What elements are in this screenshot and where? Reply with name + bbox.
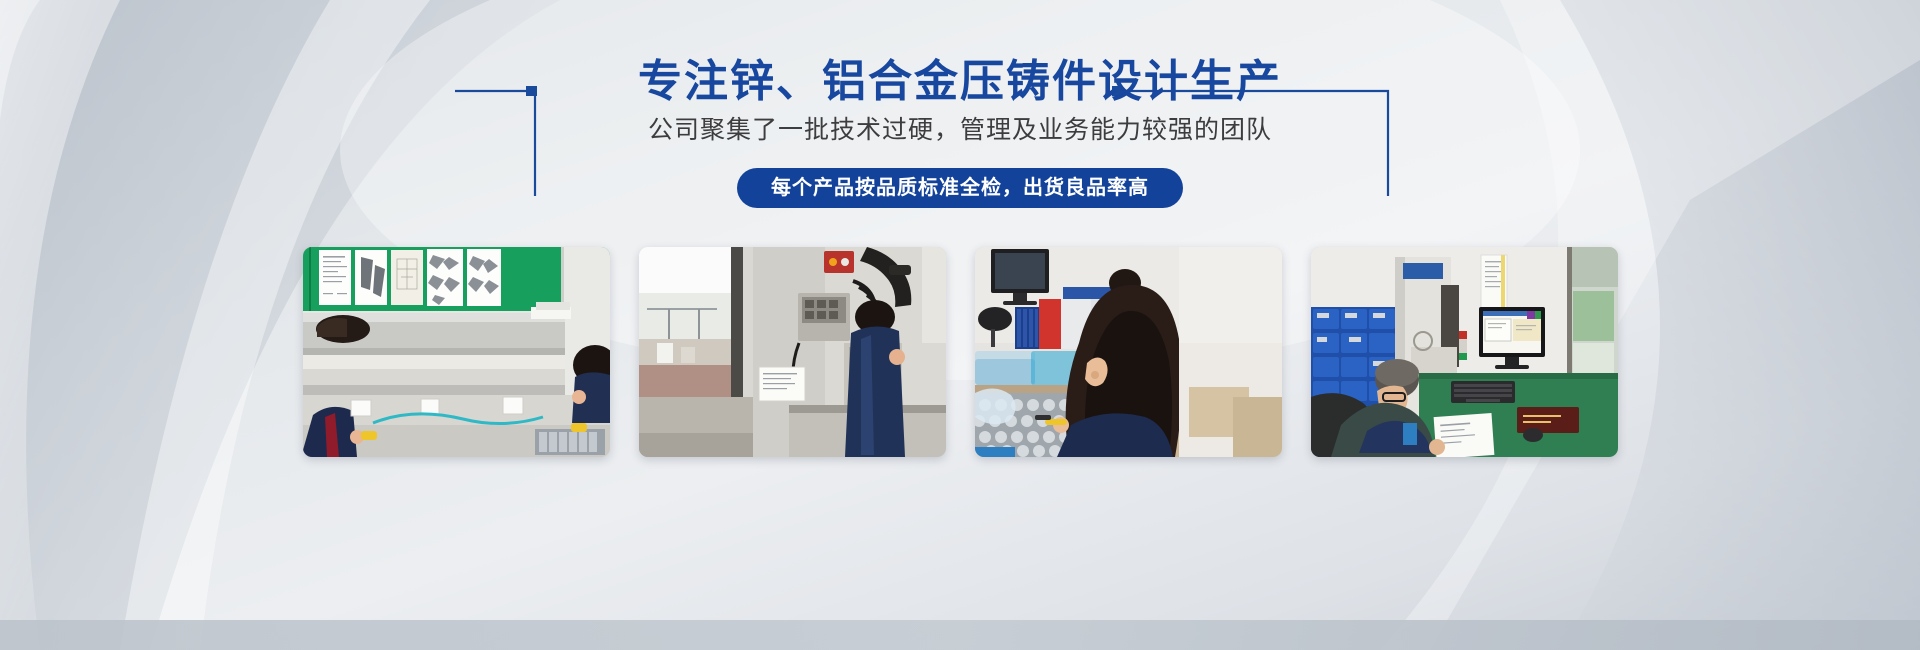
photo-1-image bbox=[303, 247, 610, 457]
photo-office-measuring[interactable] bbox=[1311, 247, 1618, 457]
photo-quality-checking[interactable] bbox=[975, 247, 1282, 457]
photo-3-image bbox=[975, 247, 1282, 457]
photo-strip bbox=[0, 247, 1920, 457]
page-title: 专注锌、铝合金压铸件设计生产 bbox=[0, 57, 1920, 108]
photo-4-image bbox=[1311, 247, 1618, 457]
headline-block: 专注锌、铝合金压铸件设计生产 公司聚集了一批技术过硬，管理及业务能力较强的团队 … bbox=[0, 0, 1920, 240]
photo-workshop-inspection[interactable] bbox=[303, 247, 610, 457]
quality-badge: 每个产品按品质标准全检，出货良品率高 bbox=[737, 168, 1183, 208]
badge-row: 每个产品按品质标准全检，出货良品率高 bbox=[0, 168, 1920, 208]
page-subtitle: 公司聚集了一批技术过硬，管理及业务能力较强的团队 bbox=[0, 113, 1920, 148]
banner-root: 专注锌、铝合金压铸件设计生产 公司聚集了一批技术过硬，管理及业务能力较强的团队 … bbox=[0, 0, 1920, 650]
photo-2-image bbox=[639, 247, 946, 457]
photo-die-casting-machine[interactable] bbox=[639, 247, 946, 457]
